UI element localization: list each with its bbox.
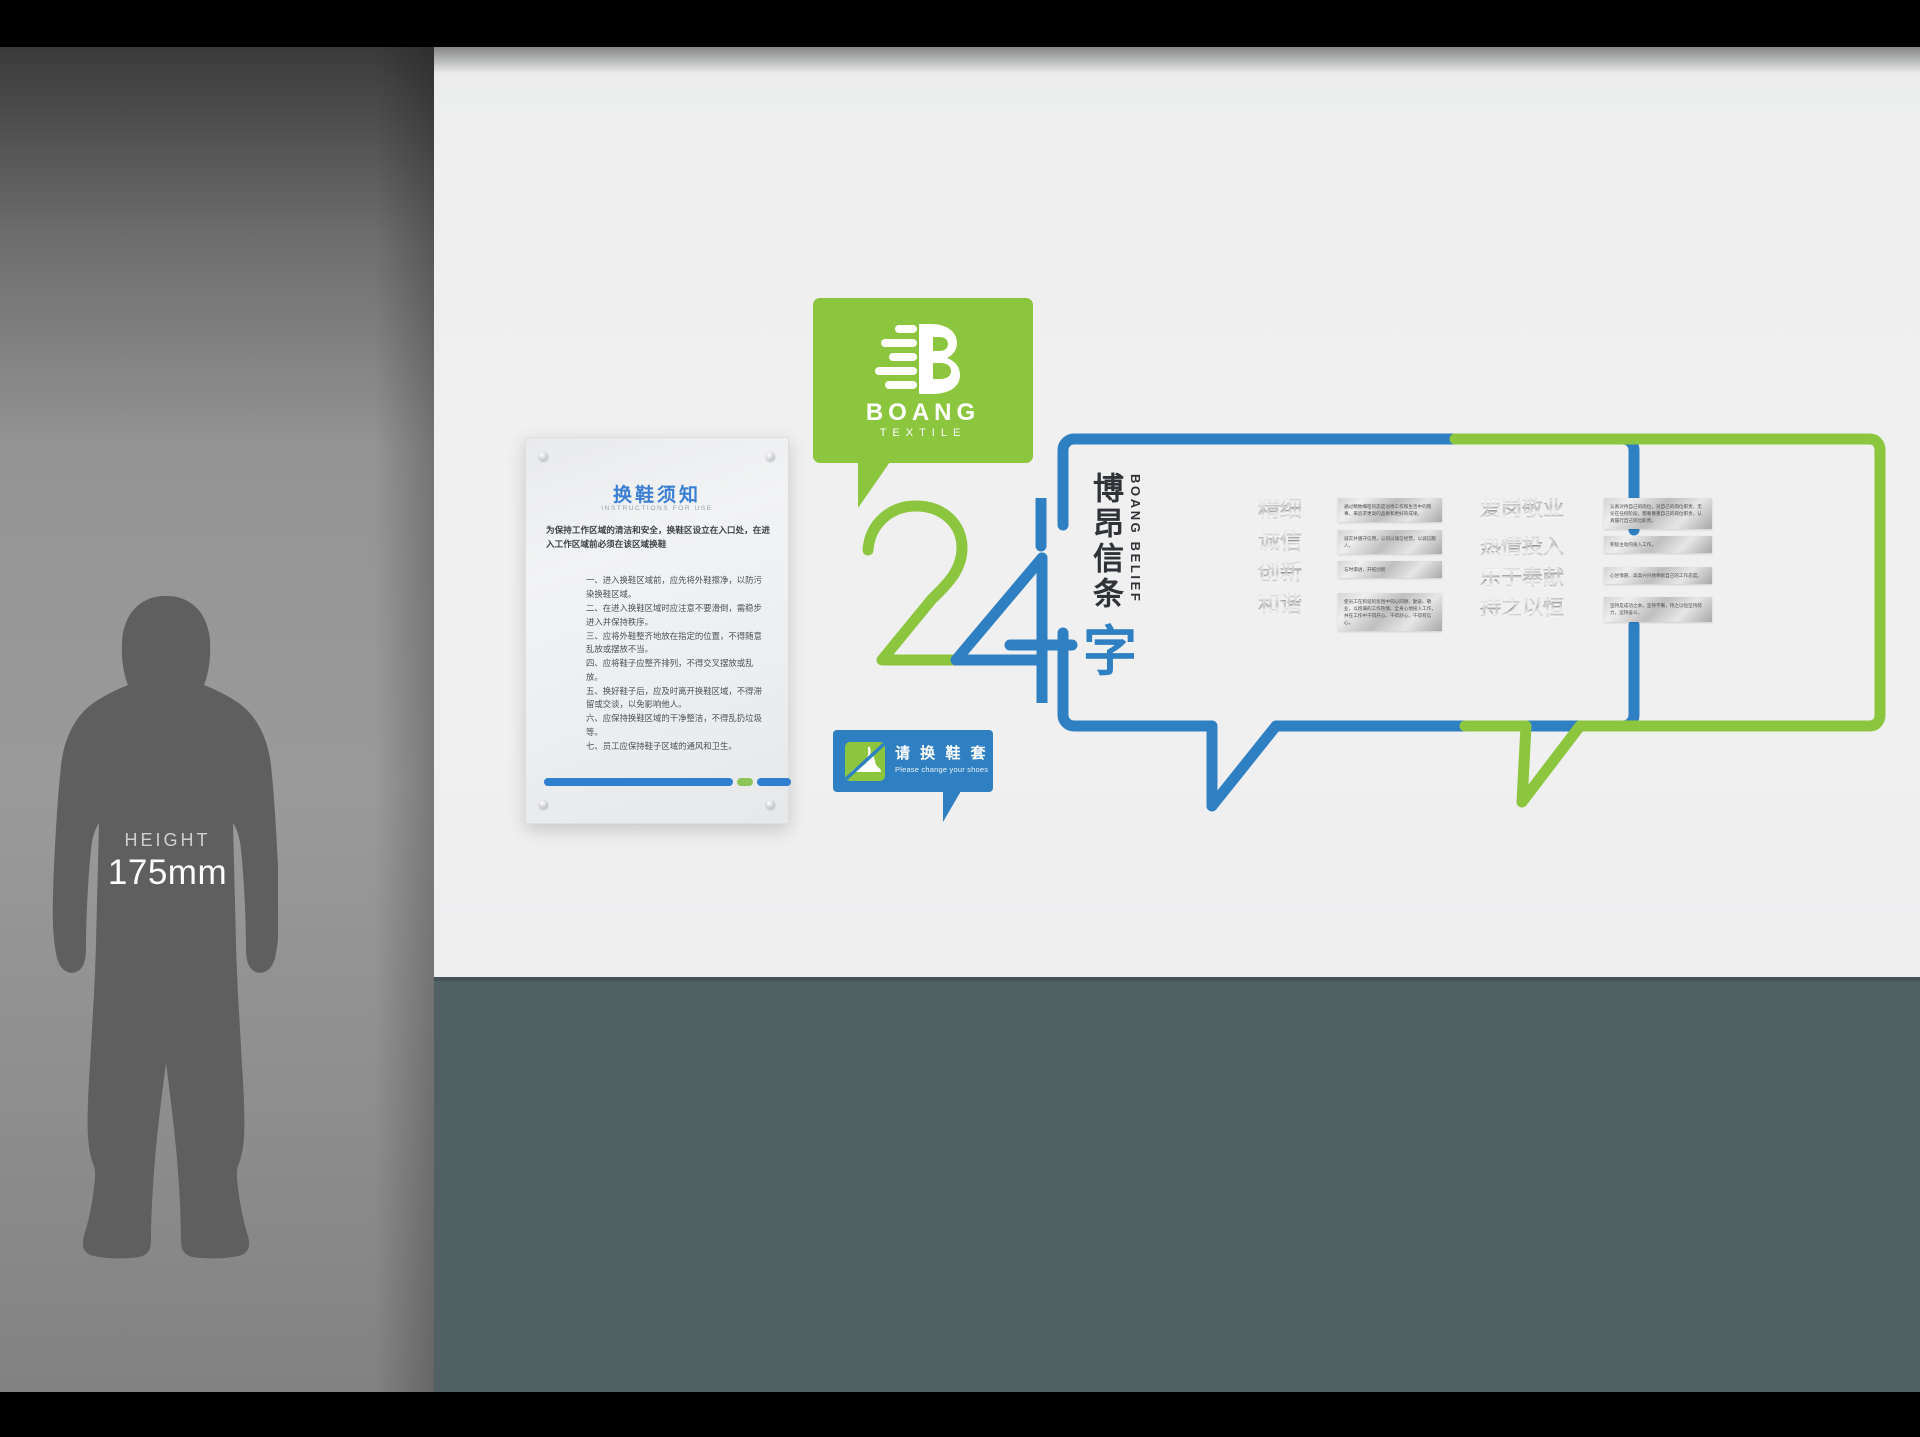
creed-row: 爱岗敬业认真对待自己的岗位，对自己的岗位职责，无论在任何阶段，都要尊重自己的岗位… [1480, 498, 1712, 529]
creed-description-plate: 与时俱进，开拓创新 [1338, 561, 1442, 578]
creed-description-plate: 使员工在和谐的氛围中同心同德、勤奋、敬业，以饱满的工作热情、全身心地投入工作，并… [1338, 593, 1442, 631]
creed-keyword: 热情投入 [1480, 536, 1598, 560]
wall-mockup-scene: HEIGHT 175mm 换鞋须知 INSTRUCTIONS FOR USE 为… [0, 0, 1920, 1437]
brand-tagline: TEXTILE [813, 427, 1033, 439]
belief-title-cn: 博昂信条 [1090, 472, 1121, 612]
creed-row: 乐于奉献心甘情愿、高高兴兴地奉献自己的工作态度。 [1480, 567, 1712, 591]
panel-lead-paragraph: 为保持工作区域的清洁和安全，换鞋区设立在入口处，在进入工作区域前必须在该区域换鞋 [546, 524, 770, 552]
brand-logo-bubble: BOANG TEXTILE [813, 298, 1033, 463]
no-outdoor-shoes-icon [845, 742, 885, 781]
panel-stud-bottom-left [539, 800, 548, 809]
creed-keyword: 持之以恒 [1480, 597, 1598, 621]
creed-description-plate: 认真对待自己的岗位，对自己的岗位职责，无论在任何阶段，都要尊重自己的岗位职责，认… [1604, 498, 1712, 529]
shoe-notice-cn: 请 换 鞋 套 [895, 742, 989, 763]
panel-rule-item: 二、在进入换鞋区域时应注意不要滑倒，需稳步进入并保持秩序。 [586, 602, 770, 630]
creed-description-plate: 通过精致细密的态度对待工作和生活中的琐事，来追求更高的品质和更好的成果。 [1338, 498, 1442, 522]
creed-keyword: 爱岗敬业 [1480, 498, 1598, 522]
creed-row: 热情投入积极主动的投入工作。 [1480, 536, 1712, 560]
accent-bar-blue-long [544, 778, 733, 786]
creed-description-plate: 诚实并遵守信用，公司以诚信经营，以诚信服人。 [1338, 530, 1442, 554]
panel-stud-bottom-right [766, 800, 775, 809]
creed-keyword: 和谐 [1258, 593, 1332, 618]
panel-title: 换鞋须知 [526, 480, 788, 507]
accent-bar-green [737, 778, 753, 786]
panel-rule-item: 三、应将外鞋整齐地放在指定的位置，不得随意乱放或摆放不当。 [586, 630, 770, 658]
panel-rule-item: 五、换好鞋子后，应及时离开换鞋区域，不得滞留或交谈，以免影响他人。 [586, 685, 770, 713]
panel-subtitle: INSTRUCTIONS FOR USE [526, 505, 788, 512]
bottom-letterbox-bar [0, 1392, 1920, 1437]
creed-row: 诚信诚实并遵守信用，公司以诚信经营，以诚信服人。 [1258, 530, 1442, 555]
creed-column-right: 爱岗敬业认真对待自己的岗位，对自己的岗位职责，无论在任何阶段，都要尊重自己的岗位… [1480, 498, 1712, 622]
creed-keyword: 精细 [1258, 498, 1332, 523]
creed-keyword: 创新 [1258, 561, 1332, 586]
brand-name: BOANG [813, 399, 1033, 427]
panel-stud-top-right [766, 452, 775, 461]
boang-b-mark-icon [813, 322, 1033, 394]
creed-row: 持之以恒坚持是成功之本，坚持不懈，持之以恒坚持努力，坚持奋斗。 [1480, 597, 1712, 621]
height-label: HEIGHT [60, 830, 275, 851]
creed-keyword: 诚信 [1258, 530, 1332, 555]
creed-description-plate: 坚持是成功之本，坚持不懈，持之以恒坚持努力，坚持奋斗。 [1604, 597, 1712, 621]
human-scale-silhouette [48, 590, 278, 1400]
creed-column-left: 精细通过精致细密的态度对待工作和生活中的琐事，来追求更高的品质和更好的成果。诚信… [1258, 498, 1442, 631]
top-letterbox-bar [0, 0, 1920, 47]
wall-ceiling-shadow [434, 47, 1920, 73]
floor-surface [434, 977, 1920, 1392]
belief-title-en: BOANG BELIEF [1128, 474, 1143, 603]
panel-rule-item: 六、应保持换鞋区域的干净整洁，不得乱扔垃圾等。 [586, 712, 770, 740]
panel-accent-bar [544, 778, 770, 786]
creed-row: 创新与时俱进，开拓创新 [1258, 561, 1442, 586]
creed-row: 精细通过精致细密的态度对待工作和生活中的琐事，来追求更高的品质和更好的成果。 [1258, 498, 1442, 523]
creed-description-plate: 积极主动的投入工作。 [1604, 536, 1712, 553]
panel-stud-top-left [539, 452, 548, 461]
height-value: 175mm [60, 853, 275, 893]
shoe-cover-notice-bubble[interactable]: 请 换 鞋 套 Please change your shoes [833, 730, 993, 792]
creed-row: 和谐使员工在和谐的氛围中同心同德、勤奋、敬业，以饱满的工作热情、全身心地投入工作… [1258, 593, 1442, 631]
shoe-bubble-tail [943, 791, 961, 822]
instructions-panel[interactable]: 换鞋须知 INSTRUCTIONS FOR USE 为保持工作区域的清洁和安全，… [525, 437, 789, 824]
accent-bar-blue-short [757, 778, 791, 786]
belief-unit-character: 字 [1083, 625, 1137, 679]
shoe-notice-en: Please change your shoes [895, 765, 988, 774]
panel-rules-list: 一、进入换鞋区域前，应先将外鞋擦净，以防污染换鞋区域。二、在进入换鞋区域时应注意… [546, 574, 770, 753]
panel-rule-item: 四、应将鞋子应整齐排列，不得交叉摆放或乱放。 [586, 657, 770, 685]
panel-rule-item: 一、进入换鞋区域前，应先将外鞋擦净，以防污染换鞋区域。 [586, 574, 770, 602]
creed-keyword: 乐于奉献 [1480, 567, 1598, 591]
creed-description-plate: 心甘情愿、高高兴兴地奉献自己的工作态度。 [1604, 567, 1712, 584]
panel-rule-item: 七、员工应保持鞋子区域的通风和卫生。 [586, 740, 770, 754]
